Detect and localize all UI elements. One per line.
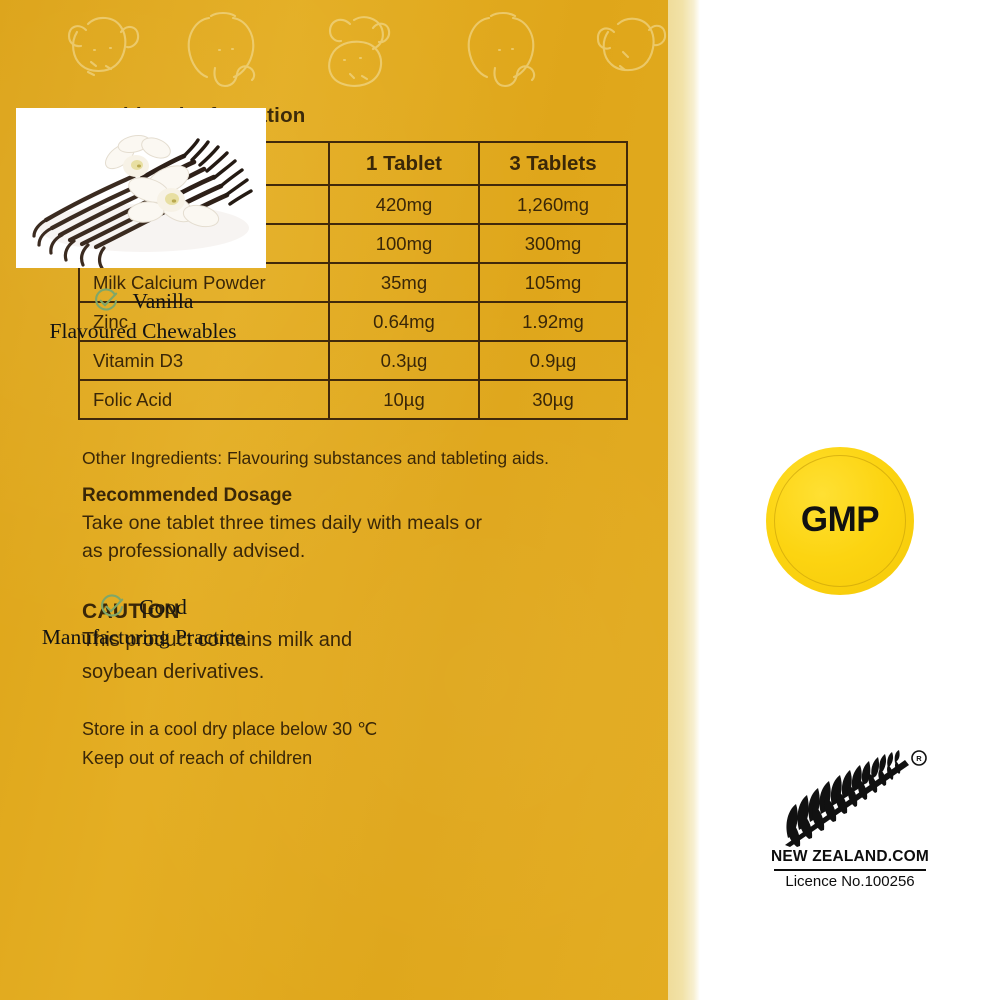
gmp-feature-line-1: Good	[139, 592, 187, 622]
caution-line-2: soybean derivatives.	[82, 661, 264, 684]
panel-edge-gradient	[668, 0, 700, 1000]
recommended-dosage-heading: Recommended Dosage	[82, 485, 292, 507]
new-zealand-logo: R NEW ZEALAND.COM Licence No.100256	[765, 748, 935, 898]
cell-three-tablets: 105mg	[479, 263, 627, 302]
cell-three-tablets: 1.92mg	[479, 302, 627, 341]
table-row: Vitamin D3 0.3µg 0.9µg	[79, 341, 627, 380]
gmp-badge-label: GMP	[766, 500, 914, 540]
storage-line-2: Keep out of reach of children	[82, 748, 312, 769]
product-label-image: Nutritional Information Ingredients 1 Ta…	[0, 0, 986, 1000]
circle-check-icon	[93, 288, 119, 314]
cell-one-tablet: 100mg	[329, 224, 479, 263]
elephant-face-outline-icon	[455, 6, 555, 96]
registered-trademark-icon: R	[916, 754, 922, 763]
dosage-line-1: Take one tablet three times daily with m…	[82, 512, 482, 535]
cell-one-tablet: 0.64mg	[329, 302, 479, 341]
gmp-feature-line-2: Manufacturing Practice	[0, 622, 286, 652]
silver-fern-icon: R	[773, 748, 933, 848]
cell-one-tablet: 420mg	[329, 185, 479, 224]
vanilla-feature-block: Vanilla Flavoured Chewables	[0, 286, 286, 346]
gmp-feature-block: Good Manufacturing Practice	[0, 592, 286, 652]
decorative-animal-row	[0, 0, 668, 100]
bear-face-outline-icon	[58, 6, 148, 90]
storage-line-1: Store in a cool dry place below 30 ℃	[82, 719, 377, 740]
bear-face-outline-icon	[588, 6, 668, 92]
other-ingredients-text: Other Ingredients: Flavouring substances…	[82, 448, 549, 469]
nz-wordmark: NEW ZEALAND.COM	[765, 848, 935, 866]
circle-check-icon	[99, 594, 125, 620]
vanilla-beans-photo	[16, 108, 266, 268]
vanilla-feature-line-1-row: Vanilla	[0, 286, 286, 316]
cell-ingredient: Vitamin D3	[79, 341, 329, 380]
elephant-face-outline-icon	[175, 6, 275, 96]
cell-three-tablets: 0.9µg	[479, 341, 627, 380]
cell-one-tablet: 10µg	[329, 380, 479, 419]
column-header-three-tablets: 3 Tablets	[479, 142, 627, 185]
gmp-feature-line-1-row: Good	[0, 592, 286, 622]
table-row: Folic Acid 10µg 30µg	[79, 380, 627, 419]
cell-three-tablets: 1,260mg	[479, 185, 627, 224]
nz-licence-number: Licence No.100256	[765, 873, 935, 890]
cell-ingredient: Folic Acid	[79, 380, 329, 419]
hippo-face-outline-icon	[310, 6, 404, 94]
cell-one-tablet: 0.3µg	[329, 341, 479, 380]
vanilla-feature-line-2: Flavoured Chewables	[0, 316, 286, 346]
dosage-line-2: as professionally advised.	[82, 540, 305, 563]
vanilla-feature-line-1: Vanilla	[133, 286, 194, 316]
column-header-one-tablet: 1 Tablet	[329, 142, 479, 185]
gmp-badge: GMP	[766, 447, 914, 595]
nz-wordmark-rule	[774, 869, 926, 871]
cell-three-tablets: 30µg	[479, 380, 627, 419]
cell-three-tablets: 300mg	[479, 224, 627, 263]
cell-one-tablet: 35mg	[329, 263, 479, 302]
